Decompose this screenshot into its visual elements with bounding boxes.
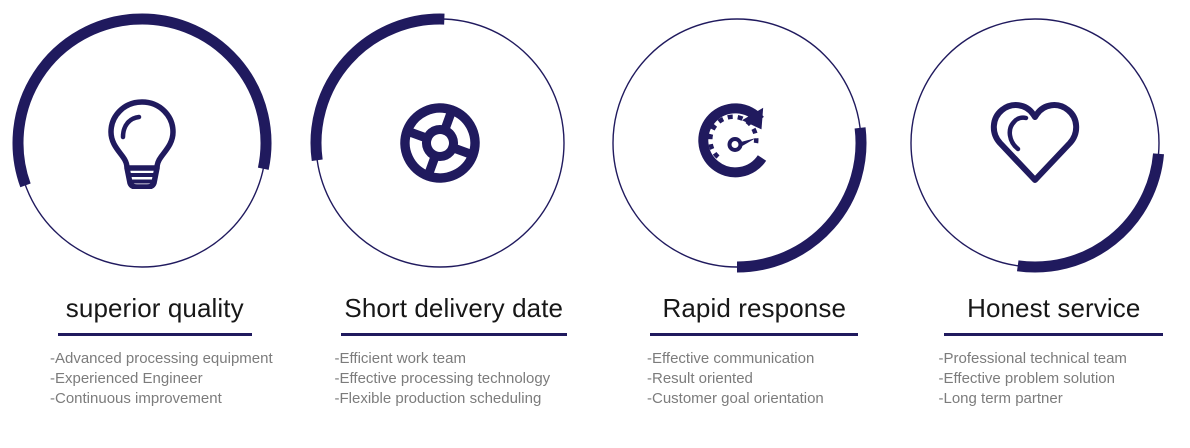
heading-divider-1 xyxy=(58,333,252,336)
advantage-column-rapid-response: Rapid response -Effective communication … xyxy=(595,0,893,448)
lifebuoy-icon xyxy=(384,87,496,199)
bullet-list-2: -Efficient work team -Effective processi… xyxy=(313,349,596,409)
text-block-1: superior quality -Advanced processing eq… xyxy=(0,292,298,425)
circle-badge-3 xyxy=(608,14,866,272)
list-item: -Flexible production scheduling xyxy=(335,389,596,409)
column-heading-2: Short delivery date xyxy=(313,292,596,324)
column-heading-1: superior quality xyxy=(12,292,298,324)
list-item: -Long term partner xyxy=(939,389,1190,409)
rule-row-4 xyxy=(918,333,1190,336)
heart-icon xyxy=(979,87,1091,199)
list-item: -Professional technical team xyxy=(939,349,1190,369)
list-item: -Continuous improvement xyxy=(50,389,298,409)
list-item: -Experienced Engineer xyxy=(50,369,298,389)
bullet-list-1: -Advanced processing equipment -Experien… xyxy=(12,349,298,409)
heading-divider-4 xyxy=(944,333,1163,336)
heading-divider-3 xyxy=(650,333,858,336)
list-item: -Result oriented xyxy=(647,369,893,389)
rule-row-2 xyxy=(313,333,596,336)
rule-row-1 xyxy=(12,333,298,336)
rule-row-3 xyxy=(616,333,893,336)
list-item: -Advanced processing equipment xyxy=(50,349,298,369)
list-item: -Effective communication xyxy=(647,349,893,369)
circle-badge-2 xyxy=(311,14,569,272)
bullet-list-4: -Professional technical team -Effective … xyxy=(918,349,1190,409)
four-advantages-infographic: superior quality -Advanced processing eq… xyxy=(0,0,1190,448)
list-item: -Customer goal orientation xyxy=(647,389,893,409)
list-item: -Effective problem solution xyxy=(939,369,1190,389)
circle-badge-4 xyxy=(906,14,1164,272)
advantage-column-superior-quality: superior quality -Advanced processing eq… xyxy=(0,0,298,448)
advantage-column-short-delivery-date: Short delivery date -Efficient work team… xyxy=(298,0,596,448)
speedometer-arrow-icon xyxy=(681,87,793,199)
advantage-column-honest-service: Honest service -Professional technical t… xyxy=(893,0,1190,448)
column-heading-3: Rapid response xyxy=(616,292,893,324)
text-block-4: Honest service -Professional technical t… xyxy=(893,292,1190,425)
circle-badge-1 xyxy=(13,14,271,272)
column-heading-4: Honest service xyxy=(918,292,1190,324)
heading-divider-2 xyxy=(341,333,567,336)
text-block-2: Short delivery date -Efficient work team… xyxy=(298,292,596,425)
text-block-3: Rapid response -Effective communication … xyxy=(595,292,893,425)
list-item: -Effective processing technology xyxy=(335,369,596,389)
lightbulb-icon xyxy=(86,87,198,199)
bullet-list-3: -Effective communication -Result oriente… xyxy=(616,349,893,409)
list-item: -Efficient work team xyxy=(335,349,596,369)
